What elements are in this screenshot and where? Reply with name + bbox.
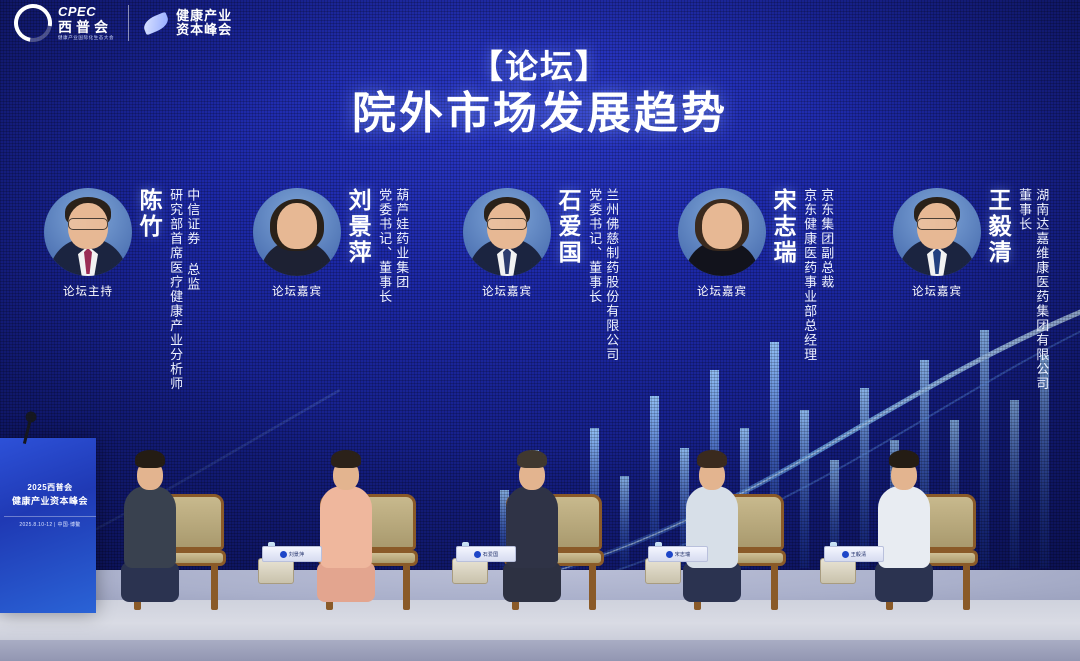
nameplate-text-2: 石爱国 — [483, 551, 499, 558]
seated-panel-row: 刘景萍 石爱国 宋志瑞 王毅清 — [0, 430, 1080, 630]
panelist-position-2: 党委书记、董事长 — [587, 188, 601, 362]
panelist-title-0: 中信证券 总监 研究部首席医疗健康产业分析师 — [165, 188, 199, 391]
panelist-card-2: 论坛嘉宾 石爱国 兰州佛慈制药股份有限公司 党委书记、董事长 — [463, 188, 618, 362]
panelist-card-3: 论坛嘉宾 宋志瑞 京东集团副总裁 京东健康医药事业部总经理 — [678, 188, 833, 362]
panelist-card-4: 论坛嘉宾 王毅清 湖南达嘉维康医药集团有限公司 董事长 — [893, 188, 1048, 391]
panelist-title-2: 兰州佛慈制药股份有限公司 党委书记、董事长 — [584, 188, 618, 362]
conference-stage-photo: CPEC 西普会 健康产业国际化生态大会 健康产业 资本峰会 【论坛】 院外市场… — [0, 0, 1080, 661]
panelist-name-4: 王毅清 — [986, 188, 1010, 266]
panelist-name-2: 石爱国 — [556, 188, 580, 266]
nameplate-1: 刘景萍 — [262, 546, 322, 562]
panelist-name-0: 陈竹 — [137, 188, 161, 240]
panelist-org-2: 兰州佛慈制药股份有限公司 — [604, 188, 618, 362]
nameplate-2: 石爱国 — [456, 546, 516, 562]
panelist-position-0: 研究部首席医疗健康产业分析师 — [168, 188, 182, 391]
panelist-name-3: 宋志瑞 — [771, 188, 795, 266]
panelist-role-2: 论坛嘉宾 — [463, 283, 551, 299]
panelist-photo-block-0: 论坛主持 — [44, 188, 132, 299]
leaf-icon — [141, 11, 171, 35]
panelist-photo-block-1: 论坛嘉宾 — [253, 188, 341, 299]
logo-bar: CPEC 西普会 健康产业国际化生态大会 健康产业 资本峰会 — [14, 4, 232, 42]
cpec-logo-tagline: 健康产业国际化生态大会 — [58, 36, 114, 41]
summit-logo: 健康产业 资本峰会 — [143, 9, 232, 37]
panelist-org-0: 中信证券 总监 — [185, 188, 199, 391]
avatar — [463, 188, 551, 276]
panelist-org-3: 京东集团副总裁 — [819, 188, 833, 362]
title-bracket-line: 【论坛】 — [0, 48, 1080, 86]
panelist-org-4: 湖南达嘉维康医药集团有限公司 — [1034, 188, 1048, 391]
panelist-role-3: 论坛嘉宾 — [678, 283, 766, 299]
avatar — [44, 188, 132, 276]
logo-divider — [128, 5, 129, 41]
nameplate-4: 王毅清 — [824, 546, 884, 562]
panelist-card-1: 论坛嘉宾 刘景萍 葫芦娃药业集团 党委书记、董事长 — [253, 188, 408, 304]
nameplate-3: 宋志瑞 — [648, 546, 708, 562]
panelist-org-1: 葫芦娃药业集团 — [394, 188, 408, 304]
panelist-title-4: 湖南达嘉维康医药集团有限公司 董事长 — [1014, 188, 1048, 391]
avatar — [678, 188, 766, 276]
nameplate-text-4: 王毅清 — [851, 551, 867, 558]
summit-logo-line2: 资本峰会 — [176, 23, 232, 37]
panelist-card-0: 论坛主持 陈竹 中信证券 总监 研究部首席医疗健康产业分析师 — [44, 188, 199, 391]
nameplate-logo-icon — [842, 551, 849, 558]
panelist-role-0: 论坛主持 — [44, 283, 132, 299]
nameplate-logo-icon — [474, 551, 481, 558]
nameplate-text-3: 宋志瑞 — [675, 551, 691, 558]
avatar — [893, 188, 981, 276]
panelist-position-4: 董事长 — [1017, 188, 1031, 391]
panelist-position-1: 党委书记、董事长 — [377, 188, 391, 304]
panelist-role-1: 论坛嘉宾 — [253, 283, 341, 299]
panelist-position-3: 京东健康医药事业部总经理 — [802, 188, 816, 362]
cpec-logo-latin: CPEC — [58, 5, 114, 18]
cpec-logo-cn: 西普会 — [58, 20, 114, 34]
panelist-photo-block-3: 论坛嘉宾 — [678, 188, 766, 299]
panelist-name-1: 刘景萍 — [346, 188, 370, 266]
nameplate-logo-icon — [280, 551, 287, 558]
forum-title: 【论坛】 院外市场发展趋势 — [0, 48, 1080, 141]
cpec-logo: CPEC 西普会 健康产业国际化生态大会 — [14, 4, 114, 42]
panelist-photo-block-2: 论坛嘉宾 — [463, 188, 551, 299]
panelist-title-3: 京东集团副总裁 京东健康医药事业部总经理 — [799, 188, 833, 362]
panelist-role-4: 论坛嘉宾 — [893, 283, 981, 299]
nameplate-logo-icon — [666, 551, 673, 558]
title-main-line: 院外市场发展趋势 — [0, 88, 1080, 141]
panelist-photo-block-4: 论坛嘉宾 — [893, 188, 981, 299]
summit-logo-line1: 健康产业 — [176, 9, 232, 23]
panelist-title-1: 葫芦娃药业集团 党委书记、董事长 — [374, 188, 408, 304]
nameplate-text-1: 刘景萍 — [289, 551, 305, 558]
avatar — [253, 188, 341, 276]
